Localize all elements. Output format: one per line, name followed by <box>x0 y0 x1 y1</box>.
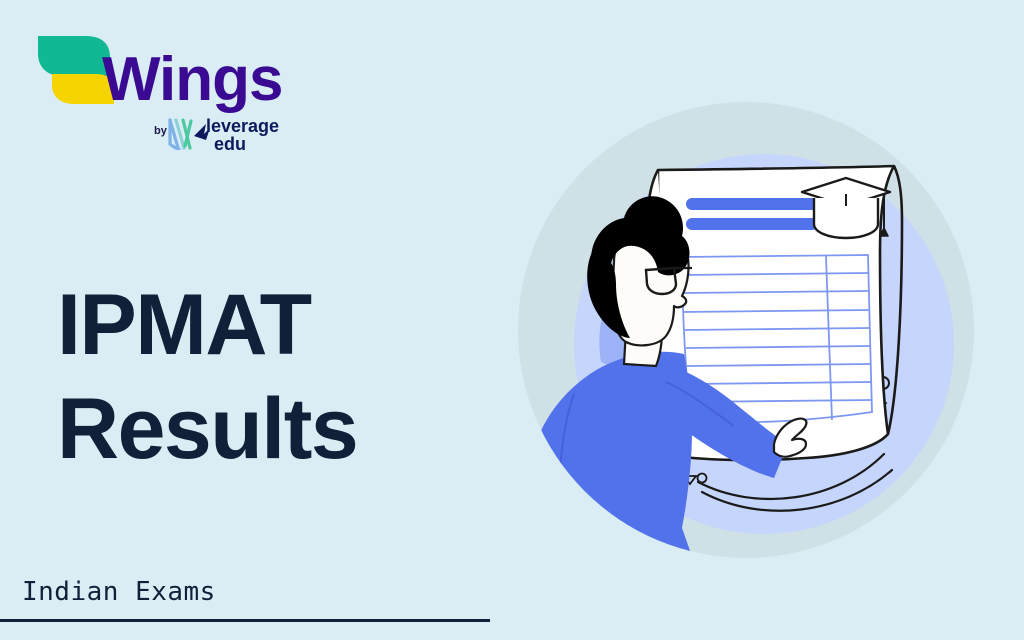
graduation-cap-icon <box>802 178 890 238</box>
sub-brand-line1: leverage <box>206 116 279 136</box>
page-background: Wings by leverage edu IPMAT Results <box>0 0 1024 640</box>
page-title: IPMAT Results <box>57 273 487 481</box>
category-label: Indian Exams <box>22 575 500 609</box>
caption-divider <box>0 619 490 622</box>
brand-byline: by <box>154 125 168 137</box>
sub-brand-line2: edu <box>214 134 246 150</box>
page-title-line-1: IPMAT <box>57 273 487 377</box>
brand-wordmark: Wings <box>102 45 282 114</box>
hero-illustration <box>506 92 986 572</box>
category-caption: Indian Exams <box>0 575 500 609</box>
leverage-edu-book-icon <box>170 120 191 149</box>
page-title-line-2: Results <box>57 377 487 481</box>
brand-logo[interactable]: Wings by leverage edu <box>34 24 294 150</box>
